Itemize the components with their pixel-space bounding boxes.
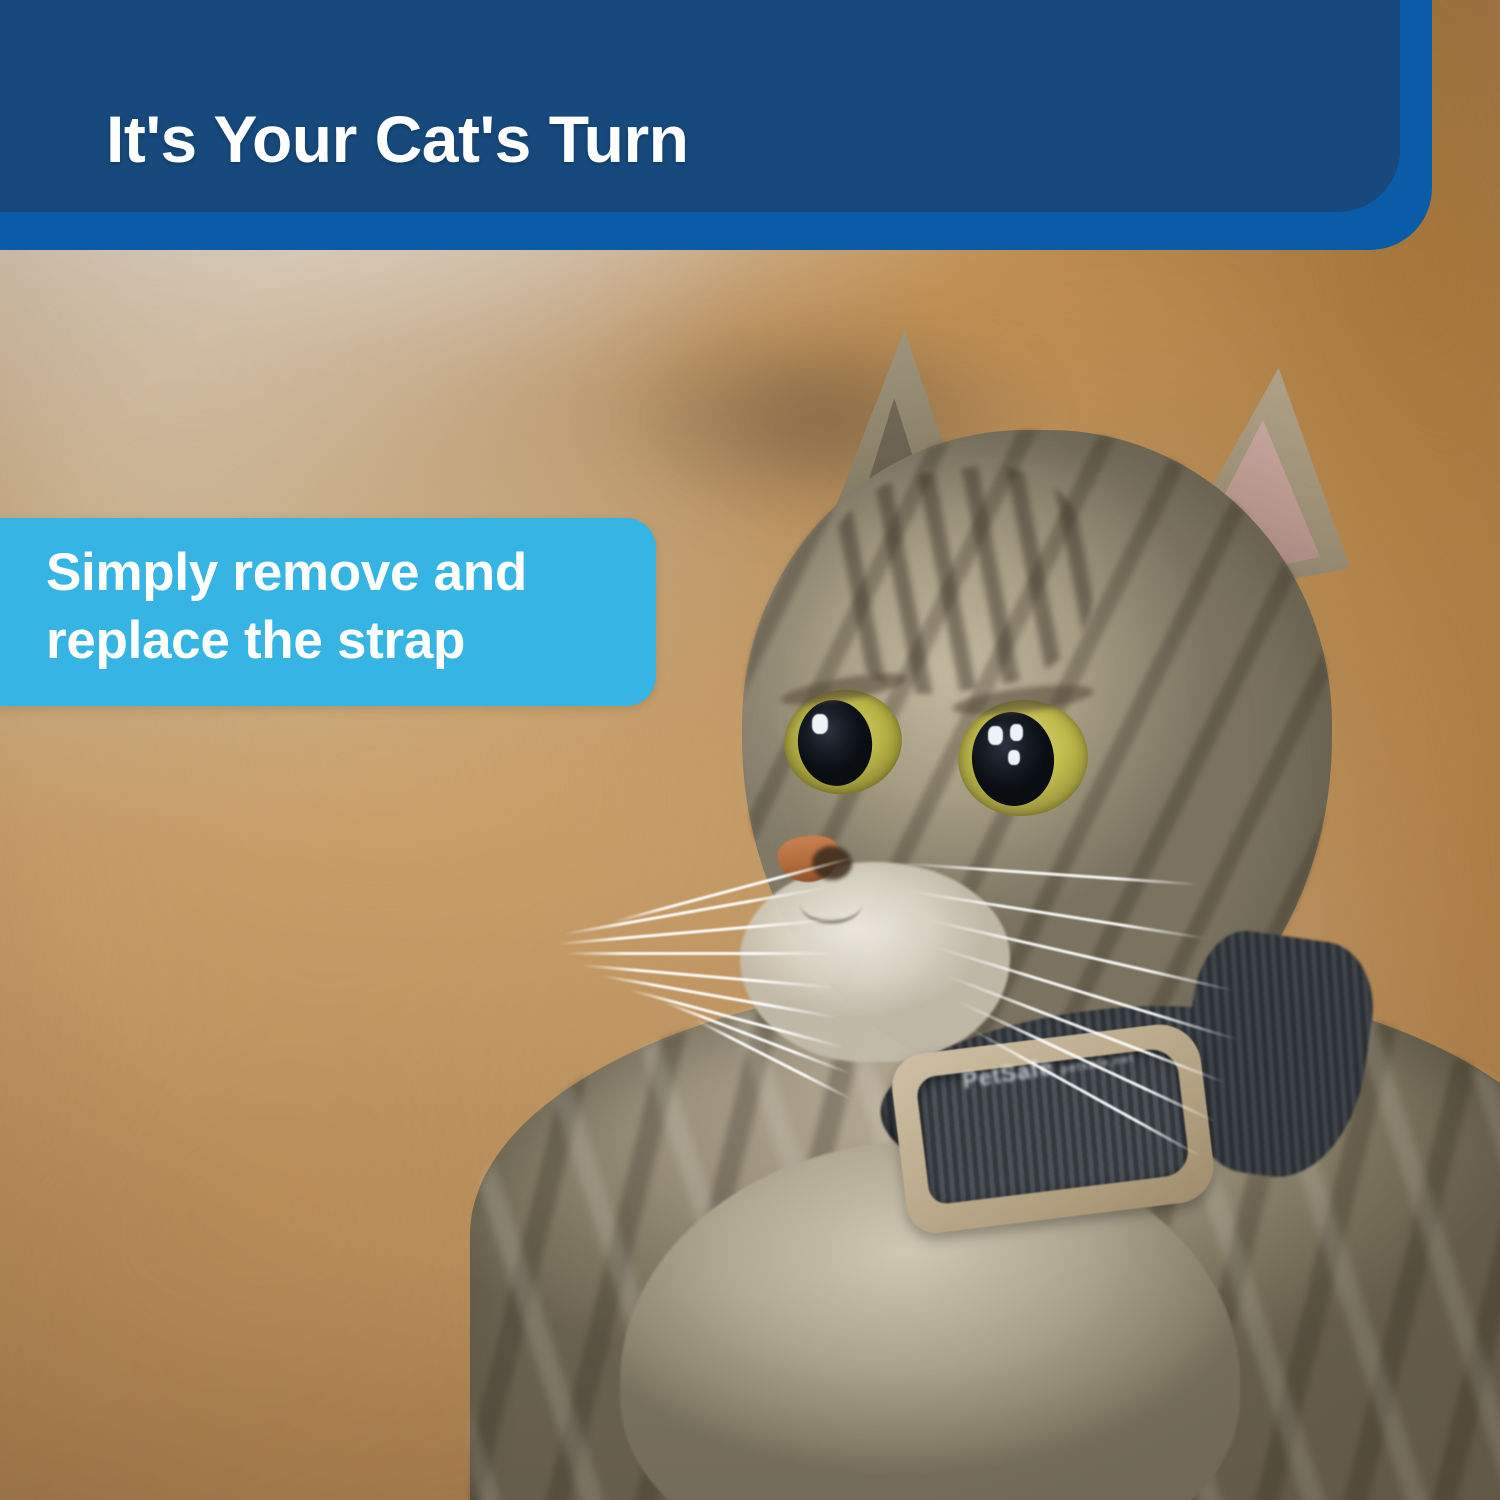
- promo-image: PetSafe petsafe.net: [0, 0, 1500, 1500]
- callout-line-1: Simply remove and: [46, 543, 527, 602]
- callout-text: Simply remove and replace the strap: [46, 539, 646, 675]
- page-title: It's Your Cat's Turn: [106, 101, 688, 177]
- callout-line-2: replace the strap: [46, 607, 646, 675]
